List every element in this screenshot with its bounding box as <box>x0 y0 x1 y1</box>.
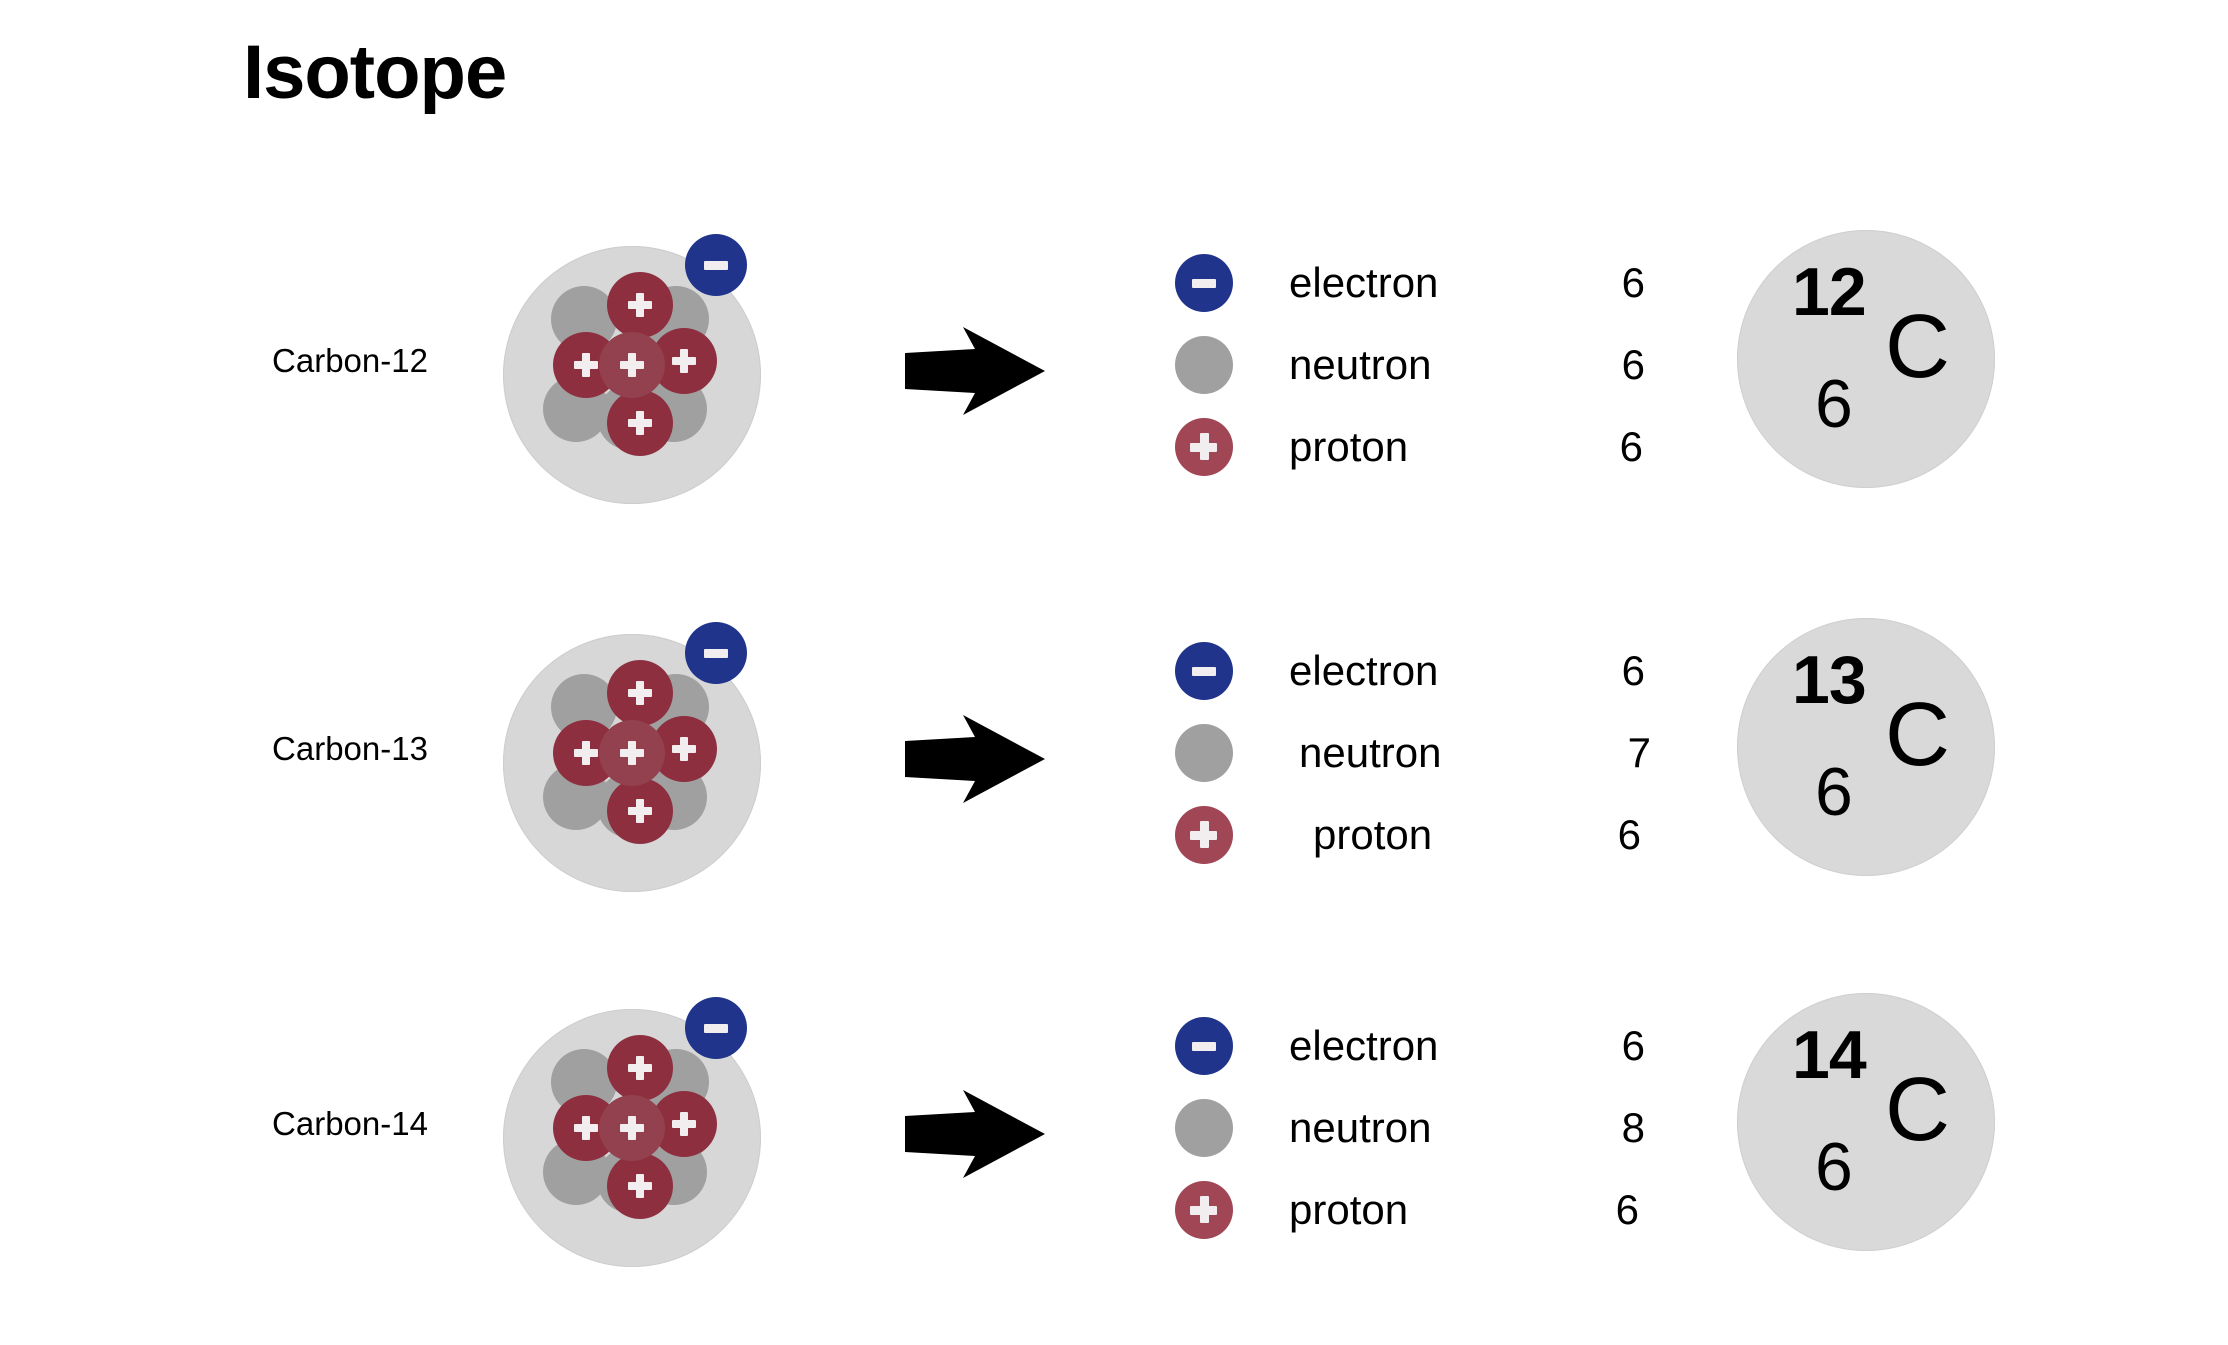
minus-icon <box>704 649 728 658</box>
atom-diagram <box>503 997 773 1267</box>
electron-particle <box>685 234 747 296</box>
particle-legend: electron 6 neutron 6 proton 6 <box>1175 242 1645 488</box>
legend-particle-name: proton <box>1289 1186 1408 1234</box>
proton-particle <box>607 1035 673 1101</box>
particle-legend: electron 6 neutron 8 proton 6 <box>1175 1005 1645 1251</box>
minus-icon <box>704 261 728 270</box>
legend-row: electron 6 <box>1175 1005 1645 1087</box>
element-symbol: C <box>1885 690 1950 780</box>
legend-particle-count: 6 <box>1616 1186 1639 1234</box>
plus-icon <box>625 1171 655 1201</box>
plus-icon <box>617 738 647 768</box>
legend-row: electron 6 <box>1175 630 1645 712</box>
plus-icon <box>625 678 655 708</box>
isotope-label: Carbon-13 <box>180 730 520 768</box>
legend-particle-count: 8 <box>1622 1104 1645 1152</box>
minus-icon <box>1192 667 1216 676</box>
atomic-number: 6 <box>1815 758 1853 826</box>
legend-particle-count: 6 <box>1620 423 1643 471</box>
isotope-row-carbon-12: Carbon-12 electron 6 neutron 6 <box>0 222 2228 522</box>
plus-icon <box>669 346 699 376</box>
atom-diagram <box>503 622 773 892</box>
flow-arrow-icon <box>905 327 1045 415</box>
legend-row: proton 6 <box>1175 794 1645 876</box>
electron-icon <box>1175 254 1233 312</box>
legend-particle-name: electron <box>1289 259 1438 307</box>
element-symbol: C <box>1885 302 1950 392</box>
legend-row: proton 6 <box>1175 406 1645 488</box>
legend-particle-count: 6 <box>1622 341 1645 389</box>
plus-icon <box>1189 1195 1219 1225</box>
plus-icon <box>571 350 601 380</box>
minus-icon <box>1192 1042 1216 1051</box>
proton-particle <box>607 272 673 338</box>
legend-row: proton 6 <box>1175 1169 1645 1251</box>
plus-icon <box>1189 432 1219 462</box>
legend-particle-count: 7 <box>1628 729 1651 777</box>
legend-particle-name: proton <box>1289 423 1408 471</box>
legend-row: neutron 6 <box>1175 324 1645 406</box>
flow-arrow-icon <box>905 715 1045 803</box>
isotope-symbol: 13 C 6 <box>1737 618 1995 876</box>
isotope-label: Carbon-14 <box>180 1105 520 1143</box>
electron-particle <box>685 997 747 1059</box>
page-title: Isotope <box>243 35 506 111</box>
isotope-label: Carbon-12 <box>180 342 520 380</box>
legend-row: neutron 8 <box>1175 1087 1645 1169</box>
plus-icon <box>1189 820 1219 850</box>
legend-particle-name: proton <box>1313 811 1432 859</box>
legend-particle-count: 6 <box>1622 1022 1645 1070</box>
proton-icon <box>1175 418 1233 476</box>
proton-particle <box>607 1153 673 1219</box>
legend-particle-name: neutron <box>1299 729 1441 777</box>
legend-particle-count: 6 <box>1622 647 1645 695</box>
proton-particle <box>599 720 665 786</box>
proton-particle <box>607 660 673 726</box>
plus-icon <box>625 1053 655 1083</box>
plus-icon <box>617 1113 647 1143</box>
proton-particle <box>607 778 673 844</box>
mass-number: 14 <box>1792 1021 1866 1089</box>
plus-icon <box>571 1113 601 1143</box>
plus-icon <box>625 796 655 826</box>
isotope-row-carbon-14: Carbon-14 electron 6 neutron 8 <box>0 985 2228 1285</box>
atomic-number: 6 <box>1815 1133 1853 1201</box>
legend-row: neutron 7 <box>1175 712 1645 794</box>
element-symbol: C <box>1885 1065 1950 1155</box>
minus-icon <box>1192 279 1216 288</box>
atomic-number: 6 <box>1815 370 1853 438</box>
flow-arrow-icon <box>905 1090 1045 1178</box>
mass-number: 12 <box>1792 258 1866 326</box>
plus-icon <box>669 734 699 764</box>
atom-diagram <box>503 234 773 504</box>
isotope-row-carbon-13: Carbon-13 electron 6 neutron 7 <box>0 610 2228 910</box>
neutron-icon <box>1175 1099 1233 1157</box>
plus-icon <box>625 408 655 438</box>
electron-particle <box>685 622 747 684</box>
proton-icon <box>1175 1181 1233 1239</box>
legend-row: electron 6 <box>1175 242 1645 324</box>
plus-icon <box>571 738 601 768</box>
mass-number: 13 <box>1792 646 1866 714</box>
neutron-icon <box>1175 336 1233 394</box>
legend-particle-count: 6 <box>1618 811 1641 859</box>
legend-particle-name: neutron <box>1289 1104 1431 1152</box>
legend-particle-name: neutron <box>1289 341 1431 389</box>
proton-particle <box>607 390 673 456</box>
particle-legend: electron 6 neutron 7 proton 6 <box>1175 630 1645 876</box>
minus-icon <box>704 1024 728 1033</box>
isotope-symbol: 14 C 6 <box>1737 993 1995 1251</box>
proton-icon <box>1175 806 1233 864</box>
proton-particle <box>599 332 665 398</box>
plus-icon <box>669 1109 699 1139</box>
proton-particle <box>599 1095 665 1161</box>
legend-particle-count: 6 <box>1622 259 1645 307</box>
electron-icon <box>1175 1017 1233 1075</box>
plus-icon <box>617 350 647 380</box>
legend-particle-name: electron <box>1289 647 1438 695</box>
plus-icon <box>625 290 655 320</box>
neutron-icon <box>1175 724 1233 782</box>
isotope-symbol: 12 C 6 <box>1737 230 1995 488</box>
legend-particle-name: electron <box>1289 1022 1438 1070</box>
electron-icon <box>1175 642 1233 700</box>
